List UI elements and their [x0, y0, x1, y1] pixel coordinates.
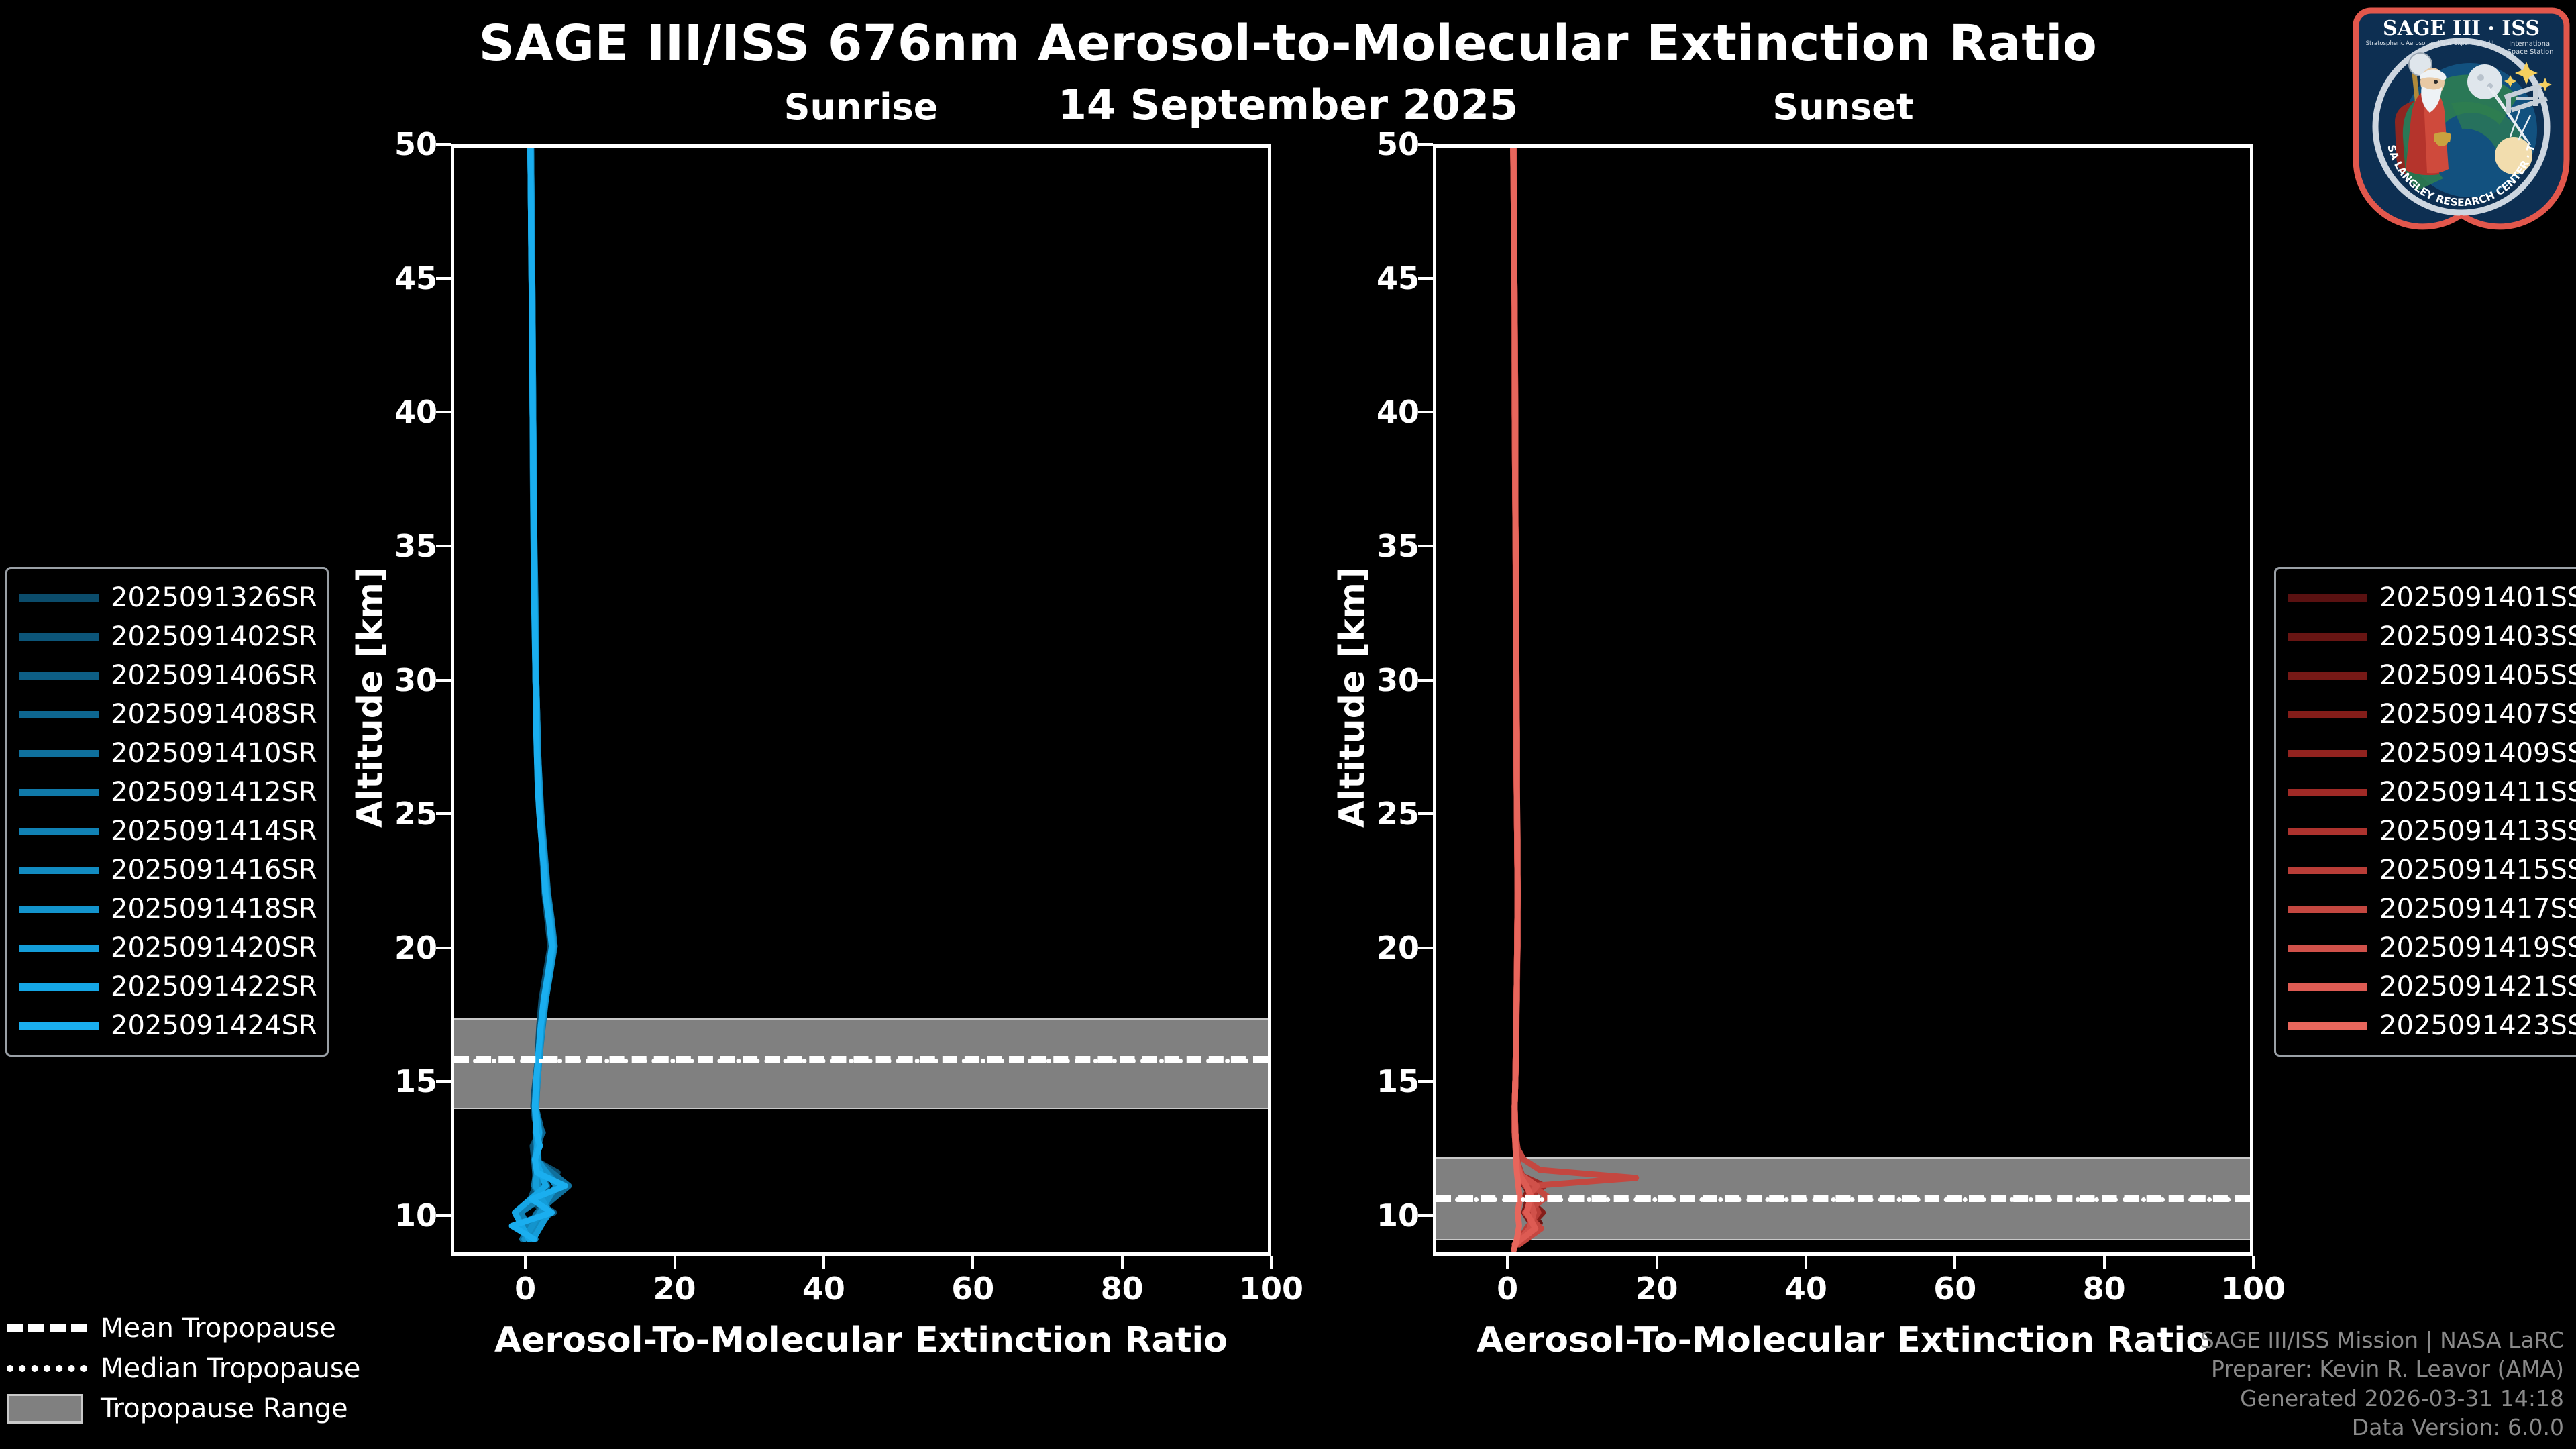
legend-item-label: 2025091419SS [2379, 932, 2576, 963]
y-tick-label: 20 [364, 930, 437, 966]
y-tick-mark [436, 812, 451, 815]
x-tick-mark [971, 1256, 974, 1269]
legend-item-label: 2025091416SR [111, 855, 317, 885]
legend-item-median-tropopause: Median Tropopause [7, 1348, 356, 1389]
x-tick-label: 60 [912, 1271, 1033, 1307]
series-lines [454, 148, 1268, 1252]
legend-sunset: 2025091401SS2025091403SS2025091405SS2025… [2274, 567, 2576, 1057]
legend-sunrise-item[interactable]: 2025091414SR [19, 812, 315, 851]
legend-item-label: 2025091405SS [2379, 660, 2576, 691]
legend-sunrise-item[interactable]: 2025091416SR [19, 851, 315, 890]
x-tick-mark [1506, 1256, 1509, 1269]
legend-item-label: 2025091422SR [111, 971, 317, 1002]
legend-sunset-item[interactable]: 2025091423SS [2288, 1006, 2576, 1045]
color-swatch-icon [19, 633, 99, 641]
legend-item-label: 2025091402SR [111, 621, 317, 652]
y-tick-mark [1418, 679, 1433, 682]
legend-item-label: 2025091409SS [2379, 738, 2576, 769]
y-tick-label: 15 [1346, 1063, 1419, 1099]
panel-label-sunset: Sunset [1433, 86, 2253, 128]
credits-block: SAGE III/ISS Mission | NASA LaRC Prepare… [2200, 1326, 2564, 1442]
legend-sunset-item[interactable]: 2025091407SS [2288, 695, 2576, 734]
legend-sunset-item[interactable]: 2025091417SS [2288, 890, 2576, 928]
series-line [512, 148, 565, 1239]
mean-tropopause-line [1436, 1195, 2250, 1202]
legend-item-tropopause-range: Tropopause Range [7, 1389, 356, 1429]
legend-item-label: 2025091417SS [2379, 894, 2576, 924]
y-tick-mark [1418, 1214, 1433, 1217]
y-tick-mark [436, 545, 451, 547]
color-swatch-icon [19, 983, 99, 991]
legend-sunrise-item[interactable]: 2025091410SR [19, 734, 315, 773]
legend-sunrise-item[interactable]: 2025091402SR [19, 617, 315, 656]
legend-label-median: Median Tropopause [101, 1353, 360, 1384]
color-swatch-icon [2288, 867, 2367, 874]
y-tick-mark [436, 1080, 451, 1083]
x-tick-mark [1953, 1256, 1956, 1269]
series-line [1513, 148, 1636, 1244]
color-swatch-icon [2288, 633, 2367, 641]
legend-item-label: 2025091401SS [2379, 582, 2576, 613]
legend-sunrise: 2025091326SR2025091402SR2025091406SR2025… [5, 567, 329, 1057]
legend-sunset-item[interactable]: 2025091403SS [2288, 617, 2576, 656]
credit-line-version: Data Version: 6.0.0 [2200, 1413, 2564, 1442]
legend-item-label: 2025091407SS [2379, 699, 2576, 730]
color-swatch-icon [2288, 828, 2367, 835]
x-tick-mark [1805, 1256, 1807, 1269]
color-swatch-icon [2288, 945, 2367, 952]
x-tick-label: 20 [1597, 1271, 1717, 1307]
y-tick-mark [436, 1214, 451, 1217]
y-tick-mark [1418, 411, 1433, 413]
color-swatch-icon [19, 711, 99, 718]
legend-item-label: 2025091423SS [2379, 1010, 2576, 1041]
x-tick-label: 20 [614, 1271, 735, 1307]
x-tick-mark [1270, 1256, 1273, 1269]
legend-item-label: 2025091418SR [111, 894, 317, 924]
color-swatch-icon [19, 789, 99, 796]
color-swatch-icon [2288, 672, 2367, 680]
color-swatch-icon [2288, 789, 2367, 796]
x-tick-mark [524, 1256, 527, 1269]
legend-sunrise-item[interactable]: 2025091422SR [19, 967, 315, 1006]
y-tick-mark [436, 679, 451, 682]
legend-item-label: 2025091403SS [2379, 621, 2576, 652]
legend-item-label: 2025091408SR [111, 699, 317, 730]
y-tick-mark [1418, 947, 1433, 949]
y-tick-label: 15 [364, 1063, 437, 1099]
mean-tropopause-line [454, 1056, 1268, 1063]
color-swatch-icon [19, 672, 99, 680]
y-tick-mark [436, 411, 451, 413]
plot-panel-sunset [1433, 144, 2253, 1256]
y-tick-label: 20 [1346, 930, 1419, 966]
legend-item-label: 2025091414SR [111, 816, 317, 847]
legend-item-label: 2025091420SR [111, 932, 317, 963]
color-swatch-icon [2288, 594, 2367, 602]
y-tick-mark [436, 947, 451, 949]
x-tick-label: 0 [1447, 1271, 1568, 1307]
dashed-line-icon [7, 1318, 87, 1338]
legend-sunset-item[interactable]: 2025091405SS [2288, 656, 2576, 695]
gray-band-icon [7, 1399, 87, 1419]
y-tick-label: 10 [364, 1197, 437, 1234]
color-swatch-icon [2288, 711, 2367, 718]
tropopause-legend: Mean Tropopause Median Tropopause Tropop… [7, 1308, 356, 1429]
legend-sunrise-item[interactable]: 2025091406SR [19, 656, 315, 695]
y-tick-mark [1418, 1080, 1433, 1083]
plot-area-sunset [1436, 148, 2250, 1252]
y-tick-mark [1418, 143, 1433, 146]
y-tick-label: 10 [1346, 1197, 1419, 1234]
legend-sunrise-item[interactable]: 2025091408SR [19, 695, 315, 734]
x-tick-mark [1121, 1256, 1124, 1269]
legend-item-label: 2025091415SS [2379, 855, 2576, 885]
color-swatch-icon [19, 906, 99, 913]
patch-subtitle-right-2: Space Station [2507, 48, 2553, 56]
credit-line-preparer: Preparer: Kevin R. Leavor (AMA) [2200, 1354, 2564, 1384]
x-tick-mark [2252, 1256, 2255, 1269]
y-tick-label: 45 [1346, 260, 1419, 297]
plot-area-sunrise [454, 148, 1268, 1252]
legend-sunset-item[interactable]: 2025091413SS [2288, 812, 2576, 851]
y-tick-mark [436, 143, 451, 146]
x-tick-label: 80 [2044, 1271, 2165, 1307]
patch-subtitle-right-1: International [2509, 40, 2552, 48]
legend-label-mean: Mean Tropopause [101, 1313, 336, 1344]
x-tick-label: 40 [763, 1271, 884, 1307]
legend-sunset-item[interactable]: 2025091409SS [2288, 734, 2576, 773]
y-axis-label: Altitude [km] [1332, 566, 1373, 828]
panel-label-sunrise: Sunrise [451, 86, 1271, 128]
legend-label-range: Tropopause Range [101, 1393, 348, 1424]
y-tick-label: 50 [364, 126, 437, 162]
x-tick-label: 60 [1894, 1271, 2015, 1307]
legend-sunrise-item[interactable]: 2025091420SR [19, 928, 315, 967]
legend-sunset-item[interactable]: 2025091419SS [2288, 928, 2576, 967]
color-swatch-icon [19, 1022, 99, 1030]
color-swatch-icon [19, 594, 99, 602]
x-tick-label: 100 [1211, 1271, 1332, 1307]
dotted-line-icon [7, 1358, 87, 1379]
x-axis-label: Aerosol-To-Molecular Extinction Ratio [1433, 1320, 2253, 1360]
y-tick-label: 40 [1346, 394, 1419, 430]
x-tick-label: 80 [1062, 1271, 1183, 1307]
legend-item-label: 2025091410SR [111, 738, 317, 769]
x-axis-label: Aerosol-To-Molecular Extinction Ratio [451, 1320, 1271, 1360]
credit-line-generated: Generated 2026-03-31 14:18 [2200, 1384, 2564, 1413]
x-tick-label: 100 [2193, 1271, 2314, 1307]
x-tick-mark [674, 1256, 676, 1269]
legend-item-label: 2025091413SS [2379, 816, 2576, 847]
legend-item-mean-tropopause: Mean Tropopause [7, 1308, 356, 1348]
legend-item-label: 2025091411SS [2379, 777, 2576, 808]
patch-title: SAGE III · ISS [2383, 17, 2540, 40]
y-tick-mark [436, 277, 451, 280]
patch-subtitle-left: Stratospheric Aerosol and Gas Experiment… [2366, 40, 2494, 47]
color-swatch-icon [19, 828, 99, 835]
legend-sunrise-item[interactable]: 2025091418SR [19, 890, 315, 928]
plot-panel-sunrise [451, 144, 1271, 1256]
legend-sunrise-item[interactable]: 2025091424SR [19, 1006, 315, 1045]
legend-sunset-item[interactable]: 2025091401SS [2288, 578, 2576, 617]
legend-item-label: 2025091326SR [111, 582, 317, 613]
x-tick-label: 40 [1746, 1271, 1866, 1307]
y-tick-label: 40 [364, 394, 437, 430]
legend-sunset-item[interactable]: 2025091421SS [2288, 967, 2576, 1006]
y-tick-mark [1418, 277, 1433, 280]
legend-item-label: 2025091421SS [2379, 971, 2576, 1002]
x-tick-label: 0 [465, 1271, 586, 1307]
color-swatch-icon [19, 867, 99, 874]
credit-line-mission: SAGE III/ISS Mission | NASA LaRC [2200, 1326, 2564, 1355]
legend-item-label: 2025091424SR [111, 1010, 317, 1041]
y-tick-label: 50 [1346, 126, 1419, 162]
page-title: SAGE III/ISS 676nm Aerosol-to-Molecular … [0, 15, 2576, 72]
y-tick-label: 35 [1346, 528, 1419, 564]
color-swatch-icon [19, 945, 99, 952]
series-line [1513, 148, 1520, 1250]
color-swatch-icon [2288, 750, 2367, 757]
color-swatch-icon [2288, 983, 2367, 991]
y-tick-mark [1418, 812, 1433, 815]
y-tick-label: 35 [364, 528, 437, 564]
legend-item-label: 2025091406SR [111, 660, 317, 691]
y-axis-label: Altitude [km] [350, 566, 390, 828]
legend-item-label: 2025091412SR [111, 777, 317, 808]
x-tick-mark [822, 1256, 825, 1269]
y-tick-label: 45 [364, 260, 437, 297]
sage-iii-iss-mission-patch-icon: SAGE III · ISS Stratospheric Aerosol and… [2351, 3, 2572, 231]
x-tick-mark [1656, 1256, 1658, 1269]
legend-sunrise-item[interactable]: 2025091326SR [19, 578, 315, 617]
series-lines [1436, 148, 2250, 1252]
legend-sunrise-item[interactable]: 2025091412SR [19, 773, 315, 812]
color-swatch-icon [2288, 1022, 2367, 1030]
legend-sunset-item[interactable]: 2025091415SS [2288, 851, 2576, 890]
color-swatch-icon [19, 750, 99, 757]
color-swatch-icon [2288, 906, 2367, 913]
legend-sunset-item[interactable]: 2025091411SS [2288, 773, 2576, 812]
y-tick-mark [1418, 545, 1433, 547]
x-tick-mark [2103, 1256, 2106, 1269]
